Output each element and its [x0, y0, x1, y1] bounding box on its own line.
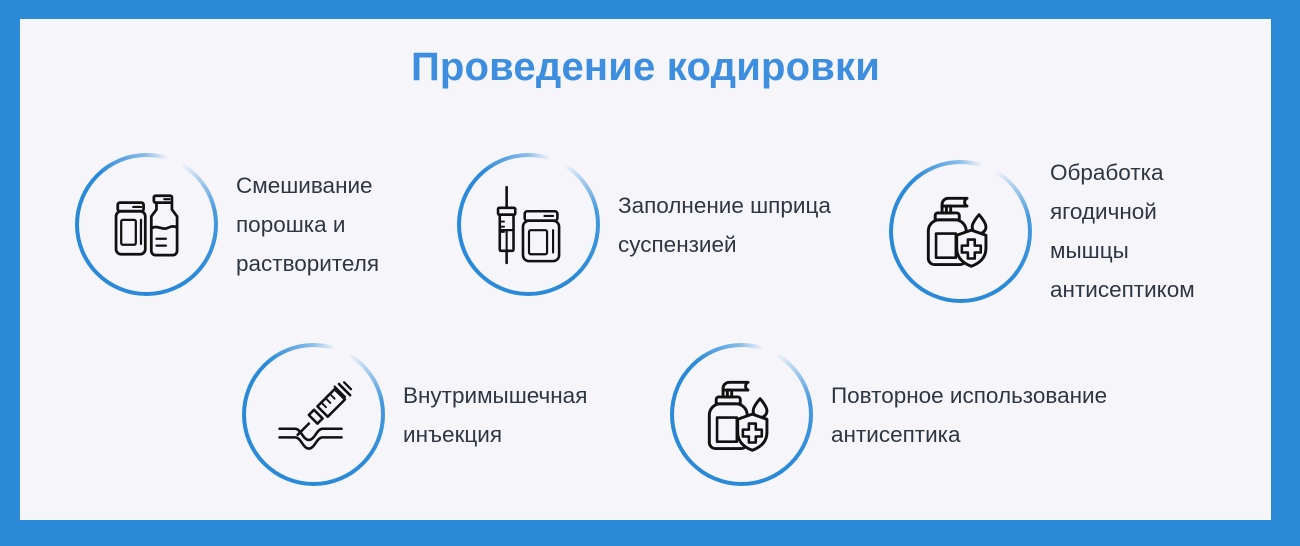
step-item-1[interactable]: Смешивание порошка и растворителя [75, 153, 379, 296]
step-icon-circle [889, 160, 1032, 303]
step-item-3[interactable]: Обработка ягодичной мышцы антисептиком [889, 153, 1271, 309]
step-caption: Повторное использование антисептика [831, 376, 1107, 454]
step-item-4[interactable]: Внутримышечная инъекция [242, 343, 587, 486]
step-icon-circle [75, 153, 218, 296]
step-caption: Смешивание порошка и растворителя [236, 166, 379, 283]
step-item-2[interactable]: Заполнение шприца суспензией [457, 153, 831, 296]
intramuscular-injection-icon [271, 372, 357, 458]
content-panel: Проведение кодировки [20, 19, 1271, 520]
infographic-card: Проведение кодировки [0, 0, 1300, 546]
step-caption: Внутримышечная инъекция [403, 376, 587, 454]
step-item-5[interactable]: Повторное использование антисептика [670, 343, 1107, 486]
step-icon-circle [457, 153, 600, 296]
step-caption: Обработка ягодичной мышцы антисептиком [1050, 153, 1271, 309]
antiseptic-dispenser-shield-icon [699, 372, 785, 458]
steps-container: Смешивание порошка и растворителя [20, 19, 1271, 520]
vial-and-bottle-icon [104, 182, 190, 268]
antiseptic-dispenser-shield-icon [918, 188, 1004, 274]
syringe-and-vial-icon [486, 182, 572, 268]
step-icon-circle [670, 343, 813, 486]
step-icon-circle [242, 343, 385, 486]
step-caption: Заполнение шприца суспензией [618, 186, 831, 264]
